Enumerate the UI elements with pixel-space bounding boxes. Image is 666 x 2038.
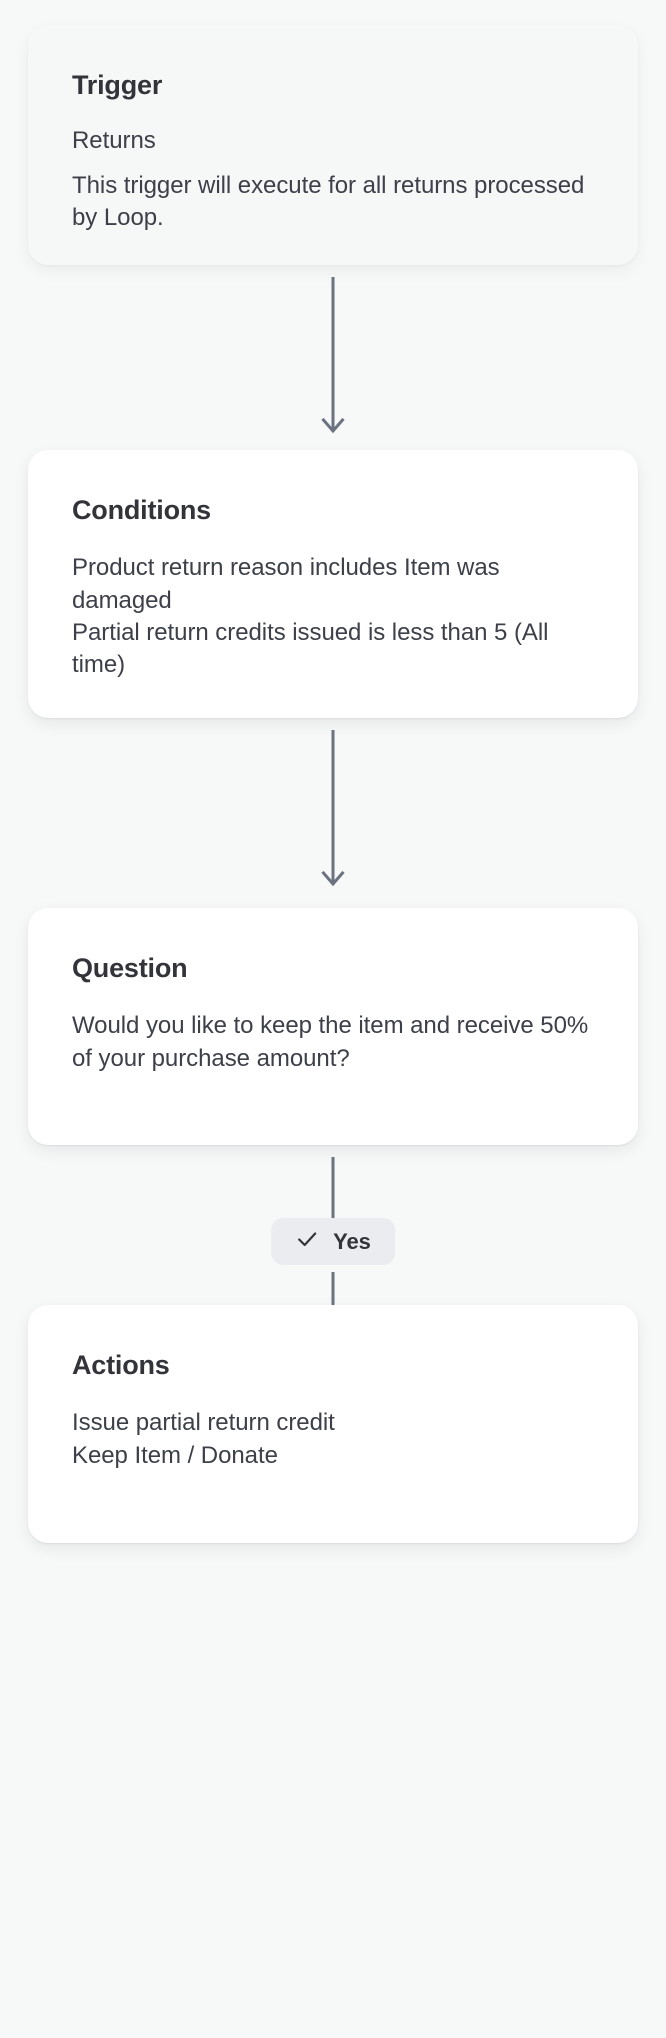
node-body-line: Returns: [72, 125, 594, 157]
node-body-line: Issue partial return credit: [72, 1407, 594, 1439]
check-icon: [295, 1227, 319, 1256]
connector-conditions-to-question: [0, 730, 666, 895]
node-body-question: Would you like to keep the item and rece…: [72, 1010, 594, 1074]
workflow-node-actions[interactable]: Actions Issue partial return credit Keep…: [28, 1305, 638, 1543]
node-body-actions: Issue partial return credit Keep Item / …: [72, 1407, 594, 1471]
node-body-line: This trigger will execute for all return…: [72, 170, 594, 234]
workflow-node-conditions[interactable]: Conditions Product return reason include…: [28, 450, 638, 718]
arrow-down-icon: [321, 730, 345, 895]
node-title-trigger: Trigger: [72, 69, 594, 101]
node-title-actions: Actions: [72, 1349, 594, 1381]
node-body-line: Keep Item / Donate: [72, 1440, 594, 1472]
line-icon: [321, 1157, 345, 1219]
branch-badge-yes[interactable]: Yes: [271, 1218, 395, 1265]
workflow-canvas: Trigger Returns This trigger will execut…: [0, 0, 666, 2038]
arrow-down-icon: [321, 277, 345, 442]
workflow-node-trigger[interactable]: Trigger Returns This trigger will execut…: [28, 25, 638, 265]
node-body-line: Would you like to keep the item and rece…: [72, 1010, 594, 1074]
node-body-trigger: Returns This trigger will execute for al…: [72, 125, 594, 233]
connector-question-to-branch: [0, 1157, 666, 1219]
node-title-question: Question: [72, 952, 594, 984]
node-body-conditions: Product return reason includes Item was …: [72, 552, 594, 681]
connector-trigger-to-conditions: [0, 277, 666, 442]
node-body-line: Partial return credits issued is less th…: [72, 617, 594, 681]
node-body-line: Product return reason includes Item was …: [72, 552, 594, 616]
node-title-conditions: Conditions: [72, 494, 594, 526]
branch-label: Yes: [333, 1231, 371, 1253]
workflow-node-question[interactable]: Question Would you like to keep the item…: [28, 908, 638, 1145]
